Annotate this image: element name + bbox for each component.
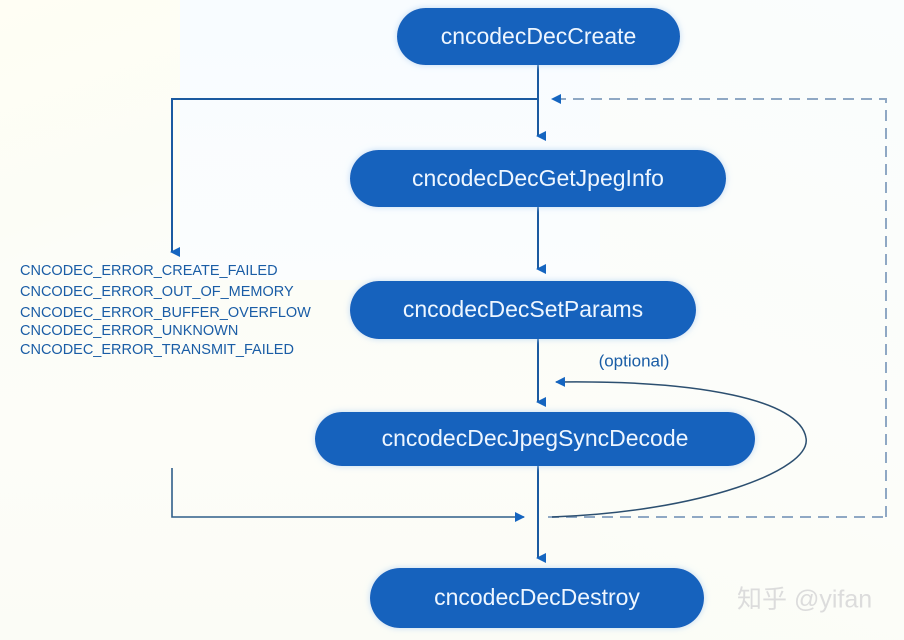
node-setparams-label: cncodecDecSetParams — [403, 296, 643, 322]
error-code-0: CNCODEC_ERROR_CREATE_FAILED — [20, 263, 278, 279]
node-cncodecDecJpegSyncDecode[interactable]: cncodecDecJpegSyncDecode — [315, 412, 755, 466]
optional-label: (optional) — [599, 351, 670, 370]
node-cncodecDecGetJpegInfo[interactable]: cncodecDecGetJpegInfo — [350, 150, 726, 207]
error-code-2: CNCODEC_ERROR_BUFFER_OVERFLOW — [20, 305, 311, 321]
error-code-3: CNCODEC_ERROR_UNKNOWN — [20, 323, 238, 339]
edge-left-return-to-junction — [172, 468, 524, 517]
node-create-label: cncodecDecCreate — [441, 23, 637, 49]
node-destroy-label: cncodecDecDestroy — [434, 584, 640, 610]
node-cncodecDecSetParams[interactable]: cncodecDecSetParams — [350, 281, 696, 339]
node-cncodecDecDestroy[interactable]: cncodecDecDestroy — [370, 568, 704, 628]
flowchart-svg: cncodecDecCreate cncodecDecGetJpegInfo c… — [0, 0, 904, 640]
error-code-4: CNCODEC_ERROR_TRANSMIT_FAILED — [20, 342, 294, 358]
node-layer: cncodecDecCreate cncodecDecGetJpegInfo c… — [315, 8, 755, 628]
watermark-label: 知乎 @yifan — [737, 586, 872, 614]
diagram-canvas: cncodecDecCreate cncodecDecGetJpegInfo c… — [0, 0, 904, 640]
node-jpeginfo-label: cncodecDecGetJpegInfo — [412, 165, 664, 191]
node-decode-label: cncodecDecJpegSyncDecode — [382, 425, 689, 451]
node-cncodecDecCreate[interactable]: cncodecDecCreate — [397, 8, 680, 65]
error-code-1: CNCODEC_ERROR_OUT_OF_MEMORY — [20, 284, 294, 300]
